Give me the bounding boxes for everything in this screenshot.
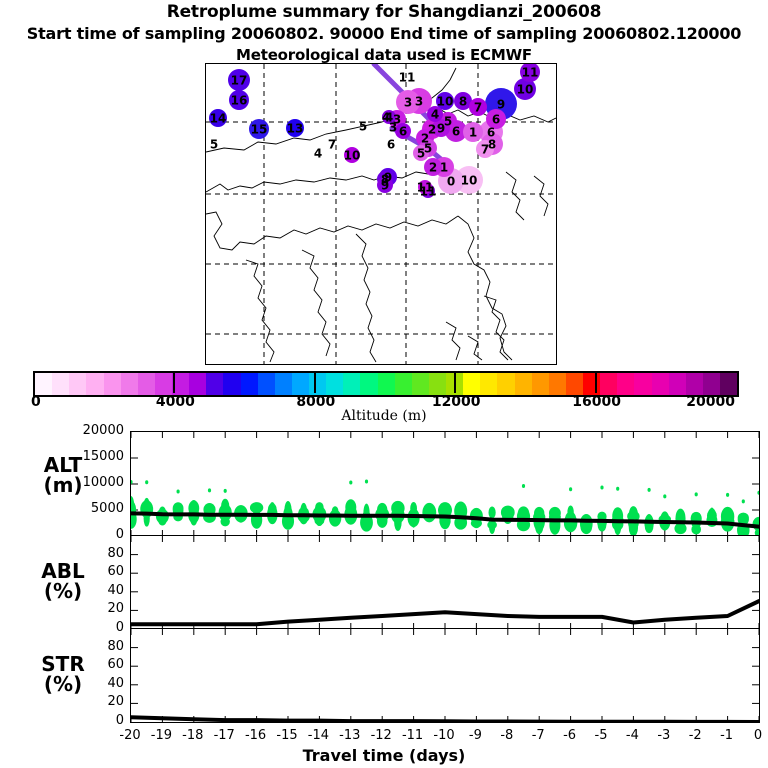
alt-scatter-blob	[726, 493, 729, 497]
alt-scatter-blob	[487, 521, 497, 529]
colorbar-segment	[275, 373, 292, 395]
map-cluster-label: 10	[344, 149, 361, 163]
colorbar-segment	[600, 373, 617, 395]
x-axis-title: Travel time (days)	[0, 746, 768, 765]
map-plain-label: 11	[399, 71, 416, 85]
alt-scatter-blob	[145, 480, 148, 484]
colorbar-segment	[189, 373, 206, 395]
colorbar-segment	[480, 373, 497, 395]
x-tick-label: -15	[270, 728, 304, 743]
alt-scatter-blob	[177, 490, 180, 494]
colorbar-divider	[314, 371, 316, 393]
y-tick-label: 10000	[64, 475, 124, 490]
y-tick-label: 20000	[64, 423, 124, 438]
map-cluster-label: 9	[381, 179, 389, 193]
colorbar-segment	[343, 373, 360, 395]
alt-scatter-blob	[738, 513, 749, 523]
alt-scatter-blob	[600, 485, 603, 489]
colorbar-axis-label: Altitude (m)	[0, 408, 768, 424]
alt-scatter-blob	[488, 506, 495, 518]
x-tick-label: -8	[490, 728, 524, 743]
colorbar-segment	[703, 373, 720, 395]
y-tick-label: 5000	[64, 501, 124, 516]
alt-scatter-blob	[501, 506, 514, 517]
alt-scatter-blob	[742, 499, 745, 503]
alt-scatter-blob	[535, 523, 543, 532]
y-tick-label: 0	[64, 713, 124, 728]
colorbar-segment	[241, 373, 258, 395]
map-cluster-label: 9	[497, 98, 505, 112]
colorbar-segment	[652, 373, 669, 395]
colorbar-segment	[463, 373, 480, 395]
map-cluster-label: 1	[469, 126, 477, 140]
alt-scatter-blob	[131, 480, 133, 484]
alt-scatter-blob	[224, 489, 227, 493]
map-plain-label: 7	[328, 138, 336, 152]
x-tick-label: -3	[647, 728, 681, 743]
colorbar-segment	[532, 373, 549, 395]
colorbar-segment	[292, 373, 309, 395]
map-cluster-label: 10	[461, 174, 478, 188]
colorbar-tick-label: 8000	[288, 394, 344, 410]
alt-scatter-blob	[692, 513, 700, 528]
x-tick-label: -7	[521, 728, 555, 743]
map-cluster-label: 1	[440, 161, 448, 175]
alt-scatter-blob	[695, 492, 698, 496]
map-cluster-label: 7	[481, 143, 489, 157]
colorbar-tick-label: 20000	[679, 394, 735, 410]
page-title: Retroplume summary for Shangdianzi_20060…	[0, 2, 768, 22]
colorbar-segment	[720, 373, 737, 395]
map-cluster-label: 5	[417, 147, 425, 161]
colorbar-segment	[206, 373, 223, 395]
map-cluster-label: 10	[437, 95, 454, 109]
map-cluster-label: 11	[417, 181, 434, 195]
alt-panel[interactable]	[130, 431, 760, 537]
colorbar-segment	[258, 373, 275, 395]
map-cluster-label: 16	[231, 94, 248, 108]
colorbar-segment	[155, 373, 172, 395]
map-cluster-label: 3	[404, 96, 412, 110]
x-tick-label: -14	[301, 728, 335, 743]
y-tick-label: 20	[64, 601, 124, 616]
map-cluster-label: 11	[522, 66, 539, 80]
y-tick-label: 40	[64, 676, 124, 691]
colorbar-divider	[454, 371, 456, 393]
colorbar-segment	[497, 373, 514, 395]
x-tick-label: -10	[427, 728, 461, 743]
met-data-line: Meteorological data used is ECMWF	[0, 46, 768, 64]
alt-scatter-blob	[250, 502, 263, 513]
colorbar-segment	[412, 373, 429, 395]
colorbar-segment	[223, 373, 240, 395]
map-cluster-label: 6	[492, 113, 500, 127]
colorbar-segment	[583, 373, 600, 395]
colorbar-segment	[515, 373, 532, 395]
alt-scatter-blob	[616, 487, 619, 491]
x-tick-label: -1	[710, 728, 744, 743]
map-cluster-label: 15	[251, 123, 268, 137]
colorbar-divider	[595, 371, 597, 393]
map-cluster-label: 17	[231, 74, 248, 88]
colorbar-segment	[86, 373, 103, 395]
map-cluster-label: 0	[447, 175, 455, 189]
y-tick-label: 20	[64, 694, 124, 709]
x-tick-label: -20	[113, 728, 147, 743]
colorbar-segment	[429, 373, 446, 395]
map-cluster-label: 6	[399, 125, 407, 139]
alt-scatter-blob	[362, 511, 371, 528]
colorbar-segment	[566, 373, 583, 395]
colorbar-divider	[173, 371, 175, 393]
colorbar-segment	[52, 373, 69, 395]
trend-line	[131, 601, 759, 624]
abl-panel[interactable]	[130, 535, 760, 630]
map-cluster-label: 4	[431, 108, 439, 122]
y-tick-label: 60	[64, 657, 124, 672]
map-cluster-label: 6	[452, 125, 460, 139]
alt-scatter-blob	[219, 504, 232, 521]
colorbar-segment	[69, 373, 86, 395]
colorbar-tick-label: 16000	[569, 394, 625, 410]
map-plain-label: 4	[314, 147, 322, 161]
y-tick-label: 40	[64, 583, 124, 598]
colorbar-tick-label: 0	[31, 394, 51, 410]
x-tick-label: 0	[741, 728, 768, 743]
colorbar-segment	[326, 373, 343, 395]
x-tick-label: -2	[678, 728, 712, 743]
retroplume-map[interactable]: 9103036171068161511621114139871053972521…	[205, 63, 557, 365]
colorbar-segment	[378, 373, 395, 395]
x-tick-label: -6	[553, 728, 587, 743]
x-tick-label: -16	[239, 728, 273, 743]
colorbar-segment	[669, 373, 686, 395]
map-cluster-label: 13	[287, 122, 304, 136]
x-tick-label: -18	[176, 728, 210, 743]
alt-scatter-blob	[522, 484, 525, 488]
map-cluster-label: 10	[517, 83, 534, 97]
map-cluster-label: 3	[415, 95, 423, 109]
alt-scatter-blob	[300, 503, 307, 521]
map-cluster-label: 2	[429, 161, 437, 175]
colorbar-segment	[104, 373, 121, 395]
colorbar-segment	[395, 373, 412, 395]
colorbar-segment	[360, 373, 377, 395]
map-plain-label: 5	[210, 138, 218, 152]
alt-scatter-blob	[757, 491, 759, 495]
colorbar-segment	[617, 373, 634, 395]
sampling-time-line: Start time of sampling 20060802. 90000 E…	[0, 24, 768, 43]
x-tick-label: -4	[615, 728, 649, 743]
x-tick-label: -12	[364, 728, 398, 743]
x-tick-label: -9	[458, 728, 492, 743]
map-plain-label: 6	[387, 138, 395, 152]
y-tick-label: 0	[64, 620, 124, 635]
map-plain-label: 3	[389, 121, 397, 135]
alt-scatter-blob	[234, 506, 247, 520]
map-cluster-label: 9	[437, 122, 445, 136]
y-tick-label: 0	[64, 527, 124, 542]
colorbar-segment	[634, 373, 651, 395]
x-tick-label: -5	[584, 728, 618, 743]
colorbar-segment	[138, 373, 155, 395]
y-tick-label: 60	[64, 564, 124, 579]
x-tick-label: -19	[144, 728, 178, 743]
y-tick-label: 80	[64, 546, 124, 561]
altitude-colorbar	[33, 371, 739, 397]
colorbar-segment	[686, 373, 703, 395]
x-tick-label: -17	[207, 728, 241, 743]
colorbar-segment	[121, 373, 138, 395]
alt-scatter-blob	[365, 480, 368, 484]
alt-scatter-blob	[470, 508, 483, 524]
colorbar-tick-label: 4000	[147, 394, 203, 410]
colorbar-segment	[309, 373, 326, 395]
map-cluster-label: 14	[210, 112, 227, 126]
str-panel[interactable]	[130, 628, 760, 723]
y-tick-label: 80	[64, 639, 124, 654]
map-cluster-label: 8	[459, 95, 467, 109]
alt-scatter-blob	[648, 488, 651, 492]
x-tick-label: -13	[333, 728, 367, 743]
colorbar-segment	[549, 373, 566, 395]
y-tick-label: 15000	[64, 449, 124, 464]
alt-scatter-blob	[707, 510, 717, 522]
x-tick-label: -11	[396, 728, 430, 743]
map-plain-label: 5	[359, 120, 367, 134]
colorbar-segment	[35, 373, 52, 395]
alt-scatter-blob	[663, 494, 666, 498]
alt-scatter-blob	[349, 480, 352, 484]
alt-scatter-blob	[208, 488, 211, 492]
colorbar-tick-label: 12000	[428, 394, 484, 410]
alt-scatter-blob	[424, 506, 434, 515]
alt-scatter-blob	[569, 487, 572, 491]
map-cluster-label: 7	[474, 101, 482, 115]
